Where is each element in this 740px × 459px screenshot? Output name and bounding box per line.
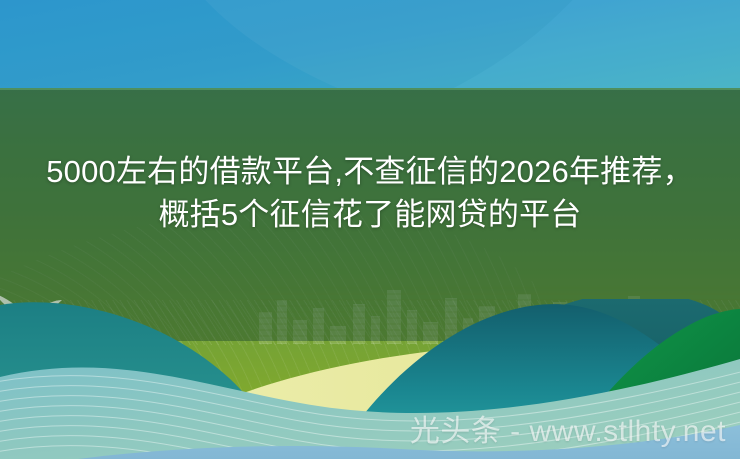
bottom-scenery-illustration: [0, 299, 740, 459]
page-title: 5000左右的借款平台,不查征信的2026年推荐，概括5个征信花了能网贷的平台: [34, 150, 706, 236]
poster-image: 5000左右的借款平台,不查征信的2026年推荐，概括5个征信花了能网贷的平台 …: [0, 0, 740, 459]
